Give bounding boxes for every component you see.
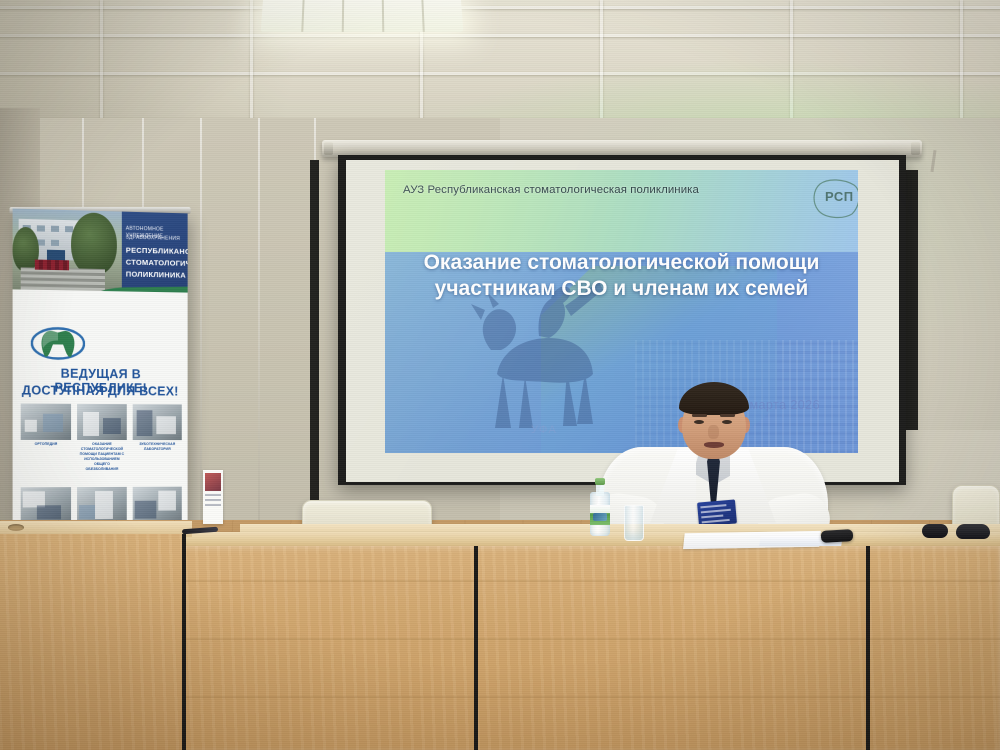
computer-mouse[interactable] xyxy=(956,524,990,539)
slide-city: УФА xyxy=(531,424,557,436)
banner-org-line2: ЗДРАВООХРАНЕНИЯ xyxy=(126,235,185,244)
banner-service-caption: ЗУБОТЕХНИЧЕСКАЯ ЛАБОРАТОРИЯ xyxy=(133,442,182,452)
eyebrow-left xyxy=(692,414,707,417)
rsp-logo-text: РСП xyxy=(825,189,854,204)
banner-name-line3: ПОЛИКЛИНИКА xyxy=(126,270,185,282)
mouth xyxy=(704,442,724,448)
monument-statue-graphic xyxy=(467,278,617,438)
eye-right xyxy=(722,420,732,424)
table-panel-seam xyxy=(866,546,870,750)
slide-title: Оказание стоматологической помощи участн… xyxy=(385,250,858,301)
name-badge xyxy=(697,499,737,526)
slide-title-line2: участникам СВО и членам их семей xyxy=(391,276,852,302)
desk-gap-seam xyxy=(182,534,186,750)
slide-title-line1: Оказание стоматологической помощи xyxy=(391,250,852,276)
drinking-glass[interactable] xyxy=(624,505,644,541)
nose xyxy=(708,425,719,439)
computer-mouse-secondary[interactable] xyxy=(922,524,948,538)
banner-service-cell: ОРТОПЕДИЯ xyxy=(21,404,71,447)
banner-service-cell: ОКАЗАНИЕ СТОМАТОЛОГИЧЕСКОЙ ПОМОЩИ ПАЦИЕН… xyxy=(77,404,127,473)
table-front-panel xyxy=(180,546,1000,750)
wall-mini-poster xyxy=(203,470,223,524)
banner-service-cell: ЗУБОТЕХНИЧЕСКАЯ ЛАБОРАТОРИЯ xyxy=(133,404,182,452)
banner-name-line1: РЕСПУБЛИКАНСКАЯ xyxy=(126,246,185,258)
eyebrow-right xyxy=(720,414,735,417)
eye-left xyxy=(694,420,704,424)
cable-grommet xyxy=(8,524,24,531)
banner-slogan-line2: ДОСТУПНАЯ ДЛЯ ВСЕХ! xyxy=(19,383,182,398)
banner-service-row: ОРТОПЕДИЯ ОКАЗАНИЕ СТОМАТОЛОГИЧЕСКОЙ ПОМ… xyxy=(21,404,182,488)
photo-scene: АУЗ Республиканская стоматологическая по… xyxy=(0,0,1000,750)
banner-service-caption: ОРТОПЕДИЯ xyxy=(21,442,71,447)
hair xyxy=(679,382,749,415)
presentation-remote[interactable] xyxy=(821,529,854,543)
tooth-logo-icon xyxy=(31,326,85,361)
table-panel-seam xyxy=(474,546,478,750)
banner-name-line2: СТОМАТОЛОГИЧЕСКАЯ xyxy=(126,258,185,270)
water-bottle[interactable] xyxy=(590,478,610,536)
slide-header: АУЗ Республиканская стоматологическая по… xyxy=(403,184,840,196)
ceiling-light-panel xyxy=(261,0,464,32)
rsp-logo: РСП xyxy=(810,176,858,220)
banner-service-caption: ОКАЗАНИЕ СТОМАТОЛОГИЧЕСКОЙ ПОМОЩИ ПАЦИЕН… xyxy=(77,442,127,472)
desk-left-front xyxy=(0,534,186,750)
wall-gap-dark xyxy=(310,160,319,530)
